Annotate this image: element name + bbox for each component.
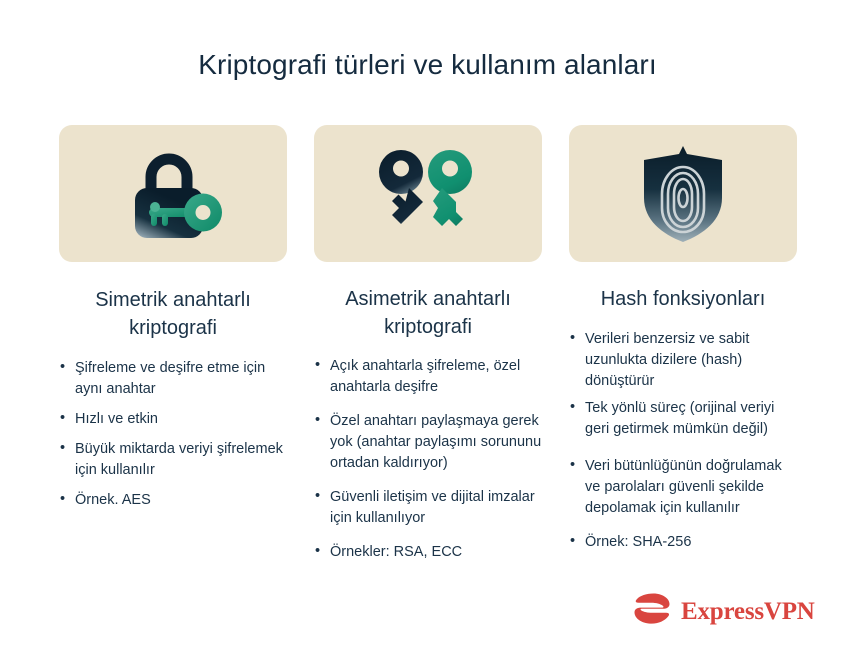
bullet-item: Açık anahtarla şifreleme, özel anahtarla… (314, 356, 542, 398)
column-heading-hash: Hash fonksiyonları (569, 286, 797, 314)
bullet-item: Tek yönlü süreç (orijinal veriyi geri ge… (569, 398, 797, 440)
bullet-item: Büyük miktarda veriyi şifrelemek için ku… (59, 439, 287, 481)
bullet-item: Hızlı ve etkin (59, 409, 287, 430)
columns-container: Simetrik anahtarlı kriptografi Şifreleme… (59, 125, 796, 576)
column-symmetric-cryptography: Simetrik anahtarlı kriptografi Şifreleme… (59, 125, 287, 520)
bullet-list-asymmetric: Açık anahtarla şifreleme, özel anahtarla… (314, 356, 542, 576)
shield-fingerprint-icon (640, 144, 726, 244)
bullet-item: Örnekler: RSA, ECC (314, 542, 542, 563)
bullet-item: Örnek. AES (59, 490, 287, 511)
bullet-item: Güvenli iletişim ve dijital imzalar için… (314, 487, 542, 529)
page-title: Kriptografi türleri ve kullanım alanları (0, 49, 855, 81)
bullet-list-hash: Verileri benzersiz ve sabit uzunlukta di… (569, 329, 797, 566)
column-heading-symmetric: Simetrik anahtarlı kriptografi (59, 287, 287, 342)
icon-card-hash (569, 125, 797, 262)
column-asymmetric-cryptography: Asimetrik anahtarlı kriptografi Açık ana… (314, 125, 542, 576)
bullet-list-symmetric: Şifreleme ve deşifre etme için aynı anah… (59, 358, 287, 520)
bullet-item: Şifreleme ve deşifre etme için aynı anah… (59, 358, 287, 400)
expressvpn-wordmark: ExpressVPN (681, 599, 815, 624)
bullet-item: Özel anahtarı paylaşmaya gerek yok (anah… (314, 411, 542, 474)
key-pair-icon (376, 146, 480, 242)
column-hash-functions: Hash fonksiyonları Verileri benzersiz ve… (569, 125, 797, 566)
icon-card-symmetric (59, 125, 287, 262)
infographic-root: Kriptografi türleri ve kullanım alanları (0, 0, 855, 657)
padlock-with-key-icon (121, 148, 225, 240)
expressvpn-logo: ExpressVPN (633, 592, 815, 630)
column-heading-asymmetric: Asimetrik anahtarlı kriptografi (314, 286, 542, 341)
bullet-item: Verileri benzersiz ve sabit uzunlukta di… (569, 329, 797, 392)
bullet-item: Veri bütünlüğünün doğrulamak ve parolala… (569, 456, 797, 519)
icon-card-asymmetric (314, 125, 542, 262)
bullet-item: Örnek: SHA-256 (569, 532, 797, 553)
expressvpn-e-mark-icon (633, 592, 671, 630)
